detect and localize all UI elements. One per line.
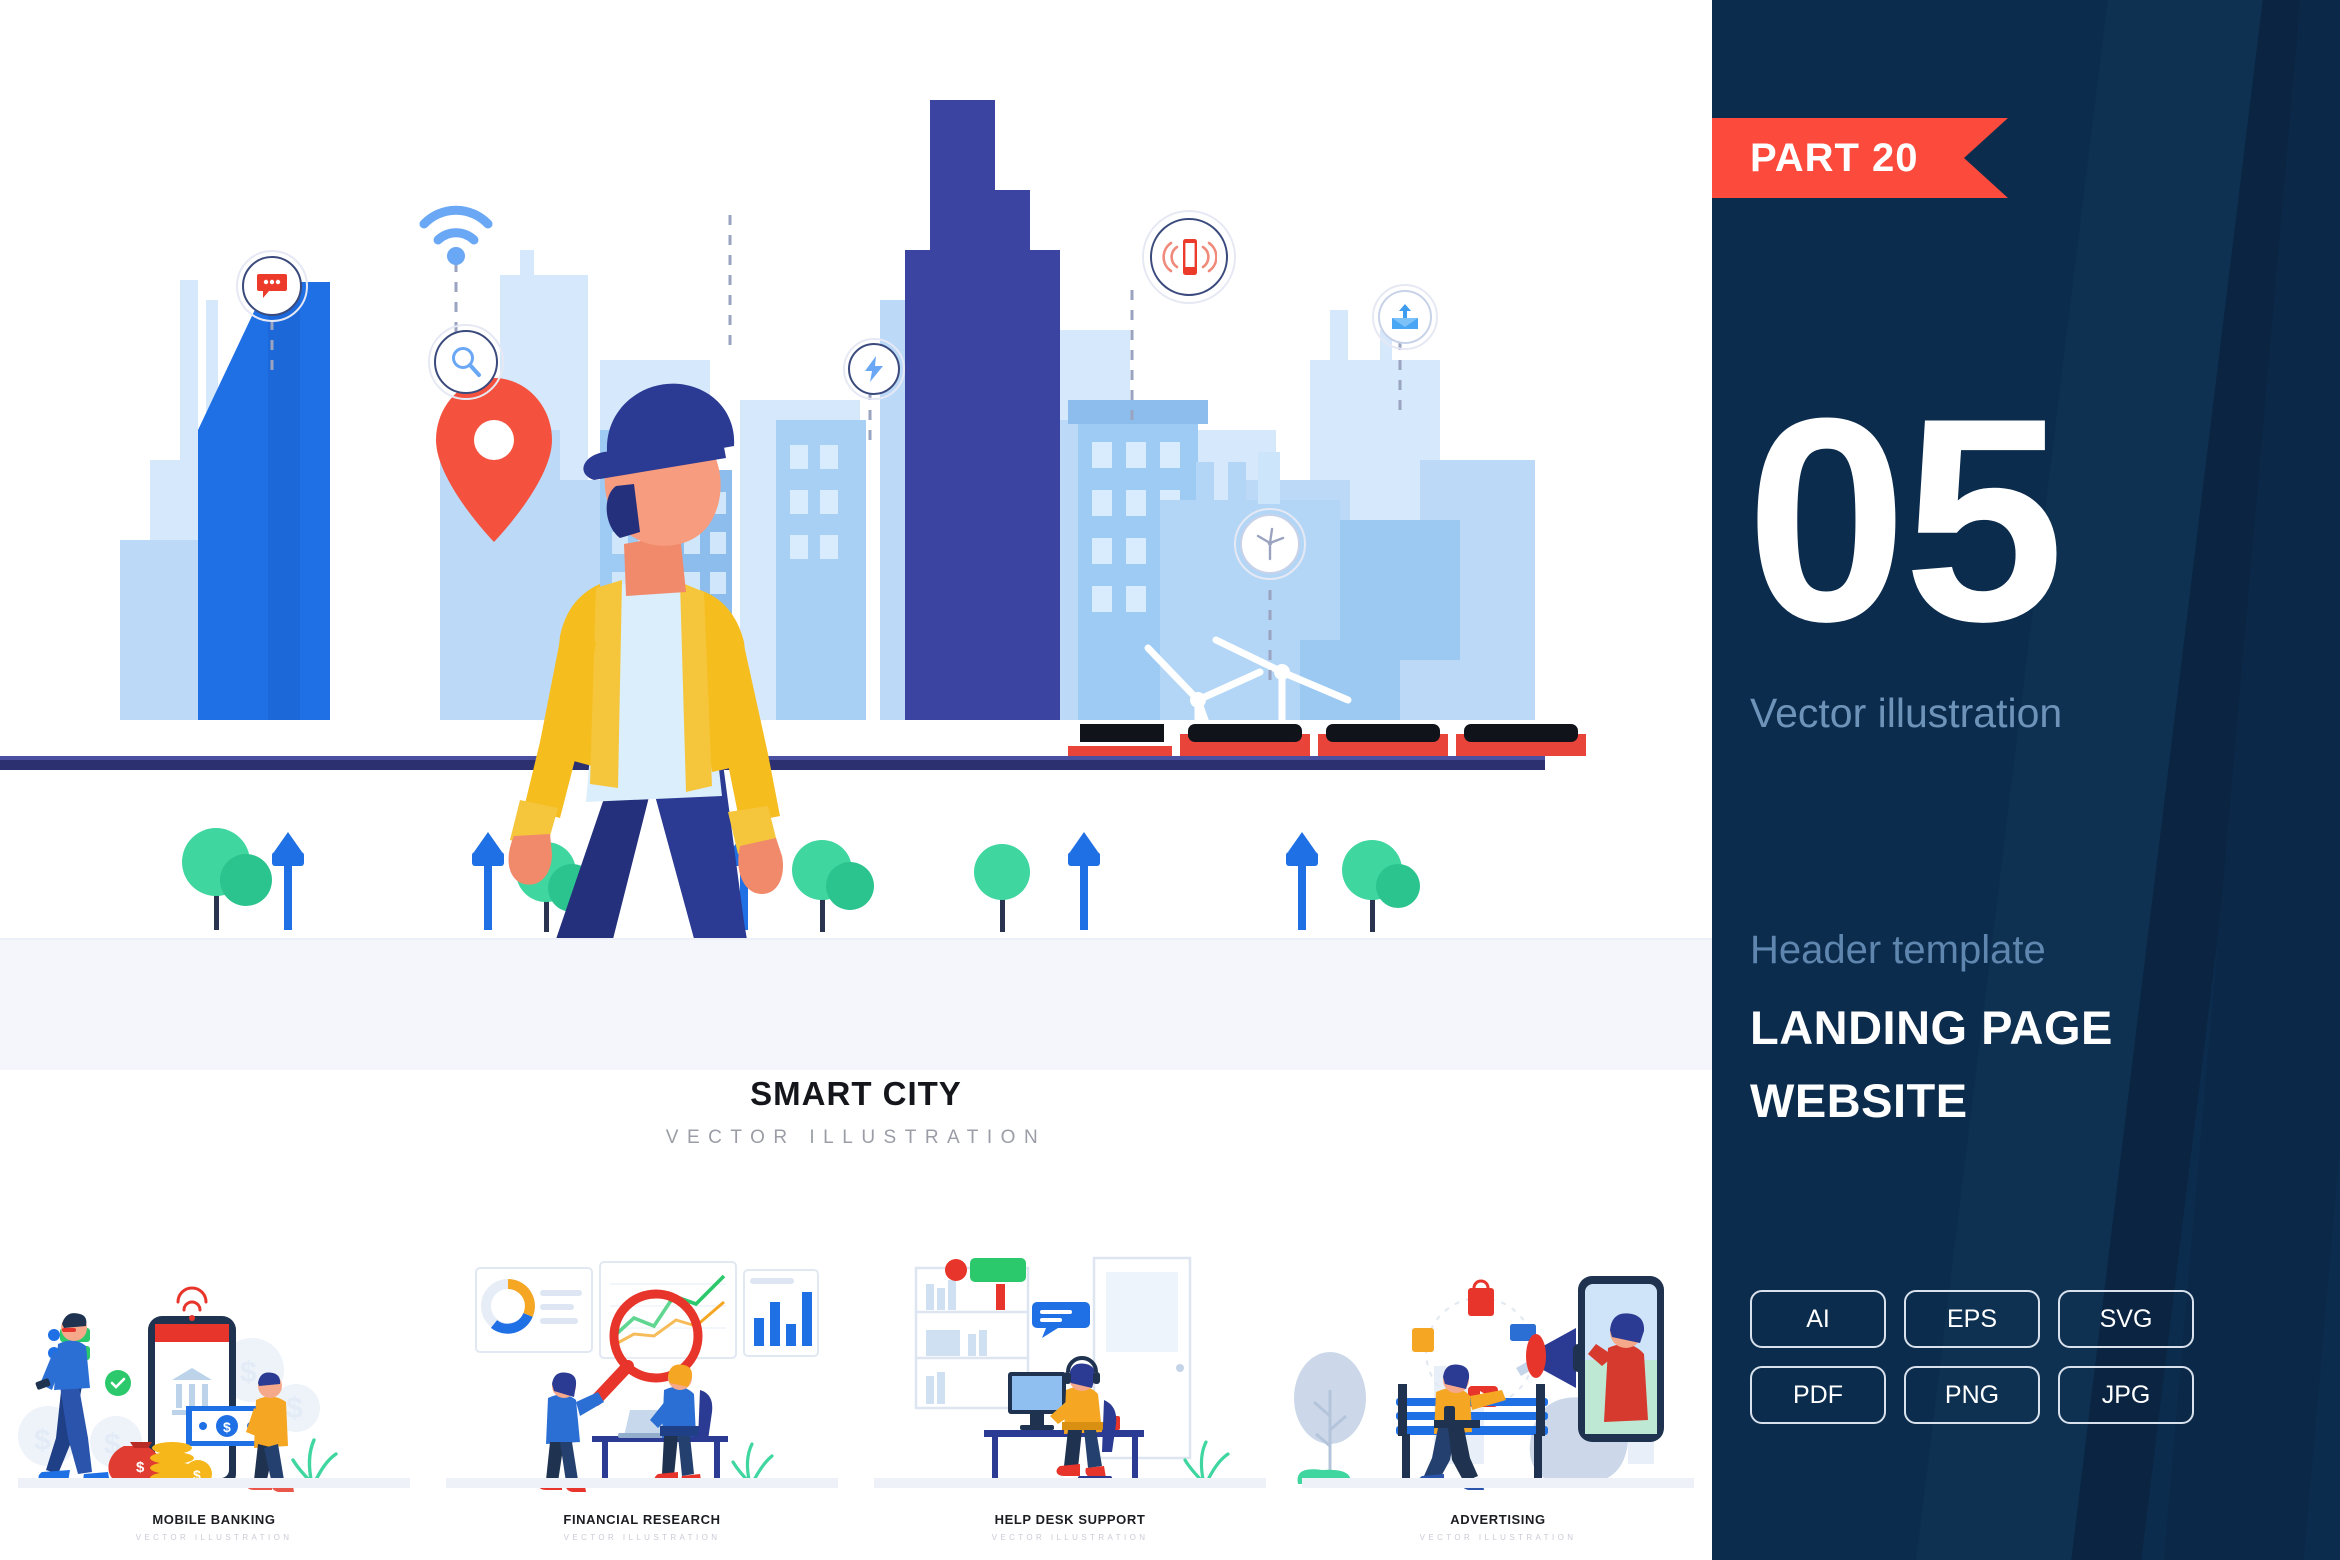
svg-text:$: $	[223, 1419, 231, 1435]
panel-title-line1: LANDING PAGE	[1750, 1000, 2113, 1055]
thumbnail-financial-research[interactable]: FINANCIAL RESEARCH VECTOR ILLUSTRATION	[428, 1240, 856, 1560]
thumbnail-subtitle: VECTOR ILLUSTRATION	[1284, 1533, 1712, 1542]
thumb-ground	[1302, 1478, 1694, 1488]
info-panel: PART 20 05 Vector illustration Header te…	[1712, 0, 2340, 1560]
thumb-ground	[446, 1478, 838, 1488]
hero-floor	[0, 940, 1712, 1070]
page-subtitle: VECTOR ILLUSTRATION	[0, 1127, 1712, 1149]
svg-text:$: $	[34, 1424, 51, 1457]
thumb-ground	[18, 1478, 410, 1488]
part-number: 05	[1746, 388, 2061, 653]
svg-text:$: $	[240, 1356, 257, 1389]
mobile-banking-art: $$$$	[0, 1240, 428, 1500]
hero-caption: SMART CITY VECTOR ILLUSTRATION	[0, 1075, 1712, 1149]
wind-turbine-icon[interactable]	[1240, 514, 1300, 574]
format-badge-svg[interactable]: SVG	[2058, 1290, 2194, 1348]
thumb-ground	[874, 1478, 1266, 1488]
format-badge-jpg[interactable]: JPG	[2058, 1366, 2194, 1424]
thumbnail-help-desk-support[interactable]: HELP DESK SUPPORT VECTOR ILLUSTRATION	[856, 1240, 1284, 1560]
thumbnail-subtitle: VECTOR ILLUSTRATION	[428, 1533, 856, 1542]
poster-canvas: SMART CITY VECTOR ILLUSTRATION $$$$	[0, 0, 2340, 1560]
part-ribbon: PART 20	[1712, 118, 2008, 198]
mail-upload-icon[interactable]	[1378, 290, 1432, 344]
financial-research-art	[428, 1240, 856, 1500]
thumbnail-caption: FINANCIAL RESEARCH VECTOR ILLUSTRATION	[428, 1512, 856, 1542]
panel-vector-illustration-label: Vector illustration	[1750, 690, 2062, 737]
thumbnail-advertising[interactable]: ADVERTISING VECTOR ILLUSTRATION	[1284, 1240, 1712, 1560]
wifi-icon[interactable]	[416, 198, 496, 271]
help-desk-art	[856, 1240, 1284, 1500]
format-badge-ai[interactable]: AI	[1750, 1290, 1886, 1348]
panel-title-line2: WEBSITE	[1750, 1073, 1968, 1128]
panel-header-template-label: Header template	[1750, 928, 2046, 973]
smart-city-hero-illustration	[0, 0, 1712, 940]
lightning-bolt-icon[interactable]	[848, 343, 900, 395]
svg-text:$: $	[136, 1459, 145, 1476]
thumbnail-caption: MOBILE BANKING VECTOR ILLUSTRATION	[0, 1512, 428, 1542]
format-badge-png[interactable]: PNG	[1904, 1366, 2040, 1424]
chat-bubble-icon[interactable]	[242, 256, 302, 316]
thumbnail-title: ADVERTISING	[1284, 1512, 1712, 1527]
search-icon[interactable]	[434, 330, 498, 394]
thumbnail-subtitle: VECTOR ILLUSTRATION	[856, 1533, 1284, 1542]
file-format-list: AI EPS SVG PDF PNG JPG	[1750, 1290, 2210, 1424]
thumbnail-caption: HELP DESK SUPPORT VECTOR ILLUSTRATION	[856, 1512, 1284, 1542]
advertising-art	[1284, 1240, 1712, 1500]
mobile-signal-icon[interactable]	[1150, 218, 1228, 296]
illustration-area: SMART CITY VECTOR ILLUSTRATION $$$$	[0, 0, 1712, 1560]
format-badge-eps[interactable]: EPS	[1904, 1290, 2040, 1348]
part-ribbon-label: PART 20	[1750, 136, 1919, 181]
page-title: SMART CITY	[0, 1075, 1712, 1113]
thumbnail-caption: ADVERTISING VECTOR ILLUSTRATION	[1284, 1512, 1712, 1542]
city-skyline-svg	[0, 0, 1712, 940]
thumbnail-subtitle: VECTOR ILLUSTRATION	[0, 1533, 428, 1542]
thumbnail-title: HELP DESK SUPPORT	[856, 1512, 1284, 1527]
thumbnail-strip: $$$$	[0, 1240, 1712, 1560]
train-icon	[1068, 722, 1586, 756]
thumbnail-title: MOBILE BANKING	[0, 1512, 428, 1527]
tree-cluster	[182, 828, 1420, 932]
thumbnail-title: FINANCIAL RESEARCH	[428, 1512, 856, 1527]
format-badge-pdf[interactable]: PDF	[1750, 1366, 1886, 1424]
svg-text:$: $	[286, 1392, 303, 1425]
thumbnail-mobile-banking[interactable]: $$$$	[0, 1240, 428, 1560]
